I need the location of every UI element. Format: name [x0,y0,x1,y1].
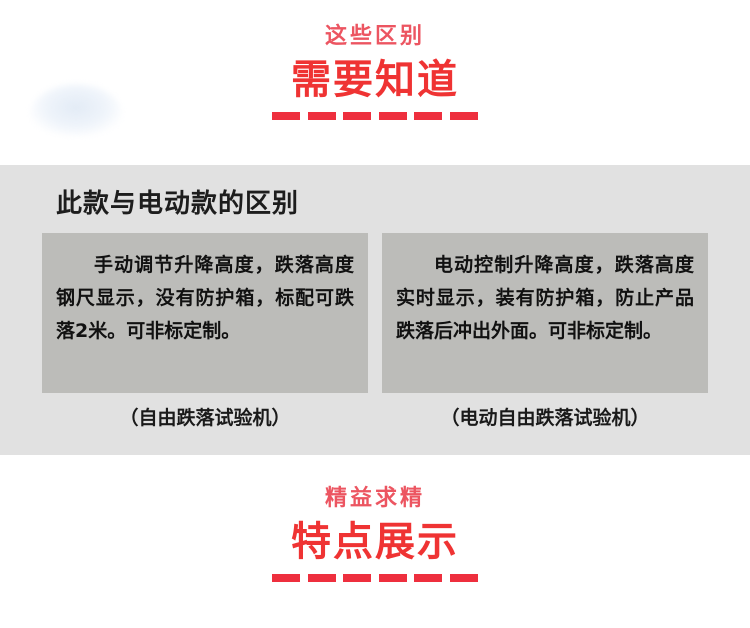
page-root: 这些区别 需要知道 此款与电动款的区别 手动调节升降高度，跌落高度钢尺显示，没有… [0,0,750,628]
top-banner-dashed-rule [272,112,478,120]
top-banner-subtitle: 这些区别 [0,22,750,52]
bottom-banner-dashed-rule [272,574,478,582]
bottom-banner-subtitle: 精益求精 [0,484,750,514]
comparison-panel-title: 此款与电动款的区别 [56,187,299,221]
dash-segment [379,112,407,120]
dash-segment [450,574,478,582]
bottom-banner: 精益求精 特点展示 [0,484,750,582]
dash-segment [414,574,442,582]
dash-segment [450,112,478,120]
top-banner-title: 需要知道 [0,54,750,106]
dash-segment [343,112,371,120]
dash-segment [308,112,336,120]
comparison-caption-electric: （电动自由跌落试验机） [382,405,708,431]
dash-segment [414,112,442,120]
dash-segment [308,574,336,582]
comparison-card-manual-text: 手动调节升降高度，跌落高度钢尺显示，没有防护箱，标配可跌落2米。可非标定制。 [56,249,354,348]
bottom-banner-title: 特点展示 [0,516,750,568]
comparison-card-electric-text: 电动控制升降高度，跌落高度实时显示，装有防护箱，防止产品跌落后冲出外面。可非标定… [396,249,694,348]
dash-segment [343,574,371,582]
dash-segment [272,112,300,120]
comparison-card-electric: 电动控制升降高度，跌落高度实时显示，装有防护箱，防止产品跌落后冲出外面。可非标定… [382,233,708,393]
dash-segment [379,574,407,582]
comparison-card-list: 手动调节升降高度，跌落高度钢尺显示，没有防护箱，标配可跌落2米。可非标定制。 电… [42,233,708,393]
top-banner: 这些区别 需要知道 [0,22,750,120]
comparison-caption-list: （自由跌落试验机） （电动自由跌落试验机） [42,405,708,431]
comparison-caption-manual: （自由跌落试验机） [42,405,368,431]
comparison-panel: 此款与电动款的区别 手动调节升降高度，跌落高度钢尺显示，没有防护箱，标配可跌落2… [0,165,750,455]
dash-segment [272,574,300,582]
comparison-card-manual: 手动调节升降高度，跌落高度钢尺显示，没有防护箱，标配可跌落2米。可非标定制。 [42,233,368,393]
